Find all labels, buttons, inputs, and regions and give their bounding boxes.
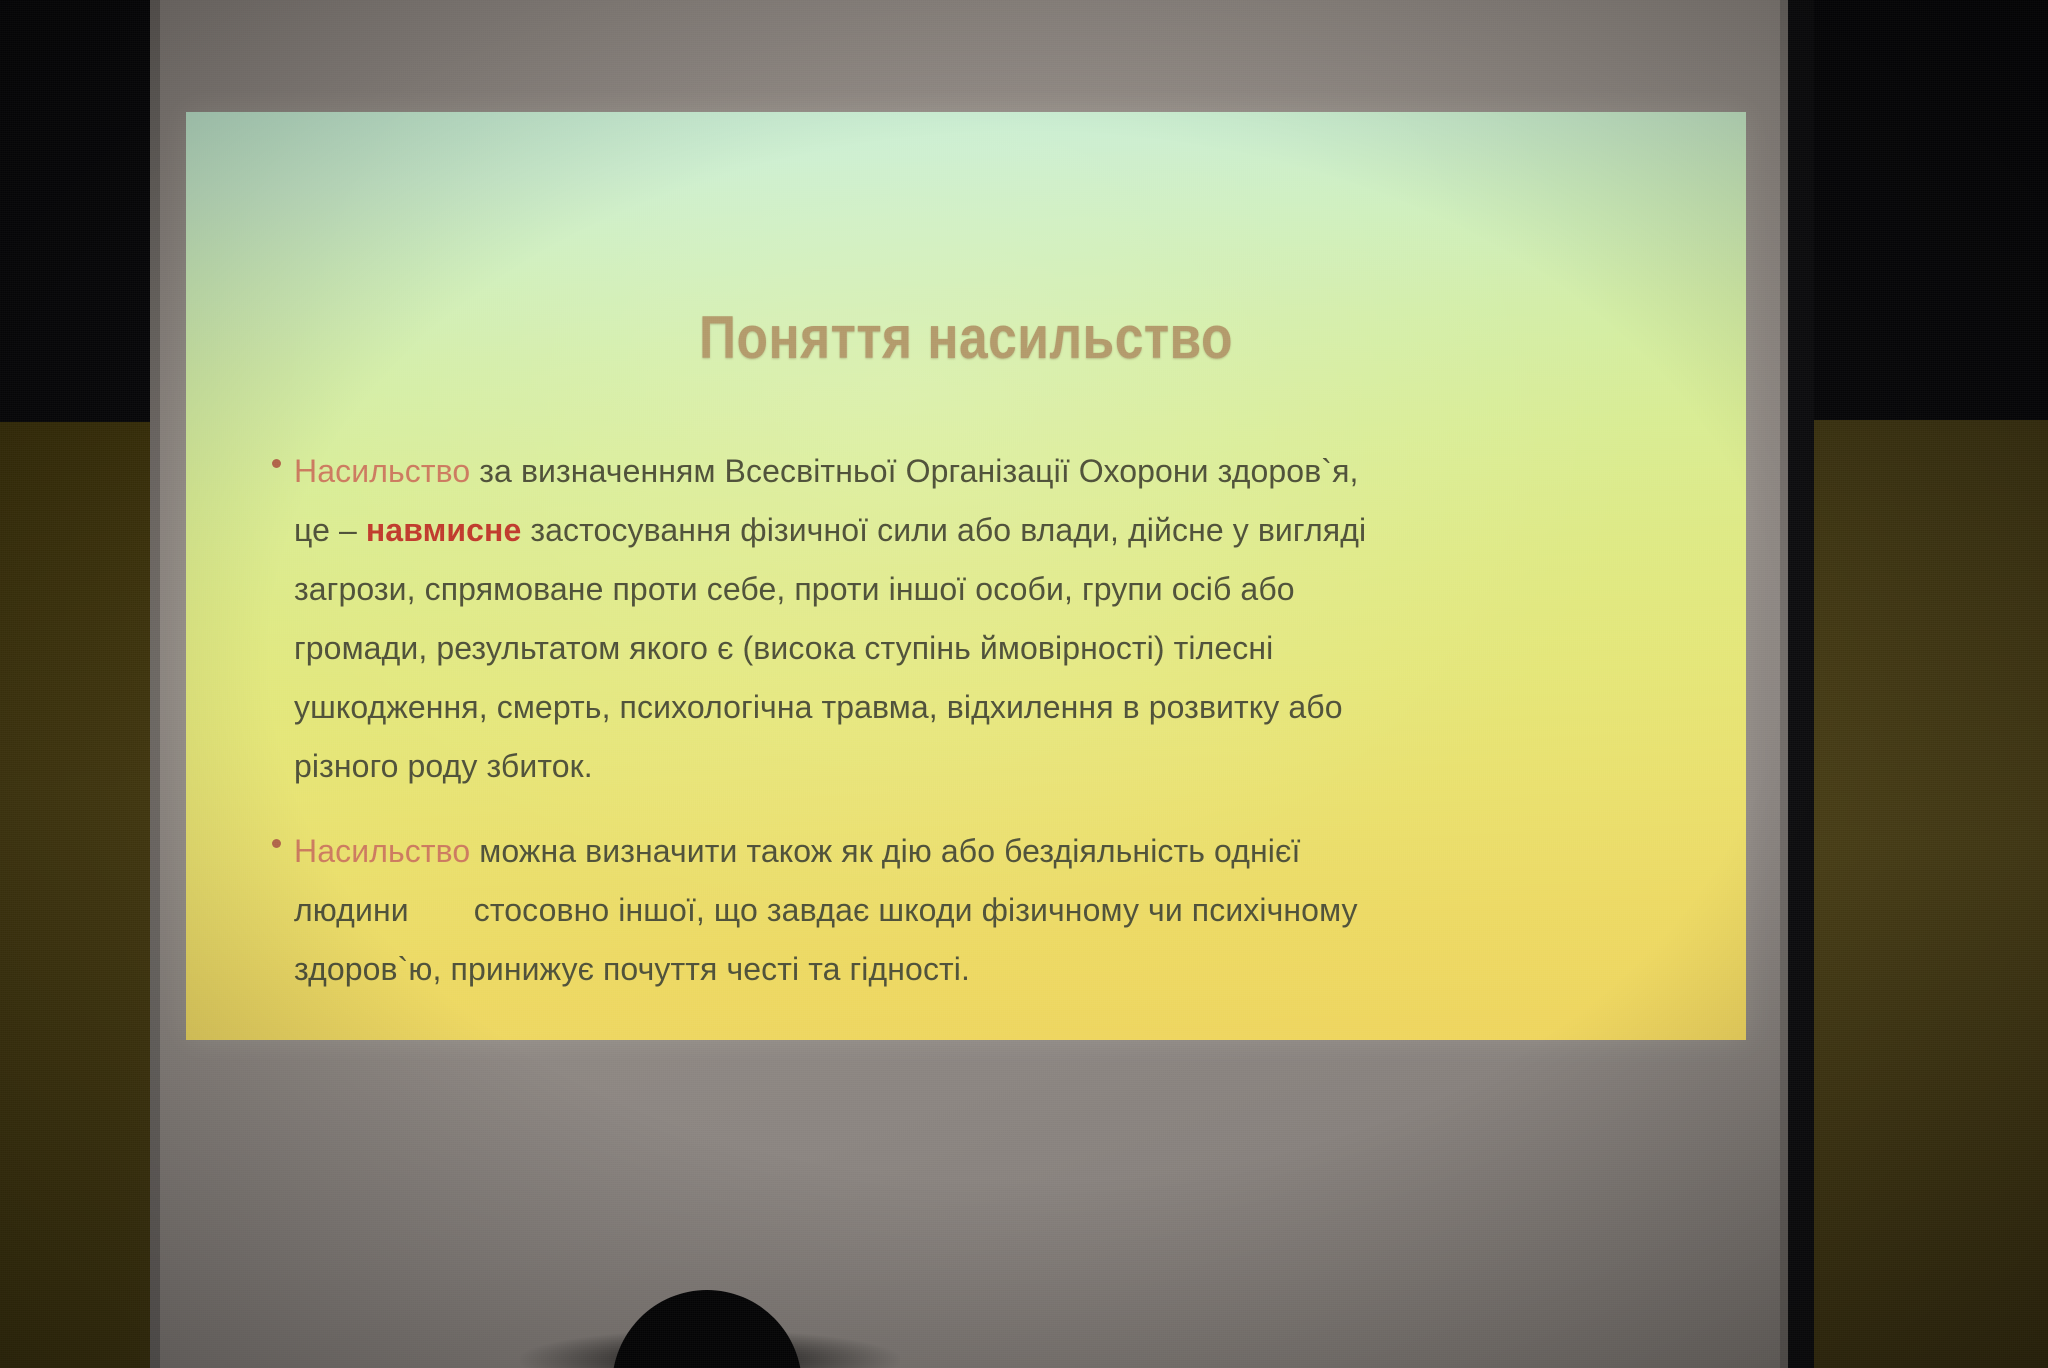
text-run: застосування фізичної сили або влади, ді… <box>521 512 1366 548</box>
room-wall-olive-right <box>1800 418 2048 1368</box>
bullet-dot-icon <box>272 839 281 848</box>
wall-seam-right <box>1788 0 1814 1368</box>
bullet-paragraph: Насильство за визначенням Всесвітньої Ор… <box>294 442 1645 796</box>
bullet-item: Насильство за визначенням Всесвітньої Ор… <box>266 442 1666 796</box>
text-run: ушкодження, смерть, психологічна травма,… <box>294 689 1343 725</box>
slide-body: Насильство за визначенням Всесвітньої Ор… <box>266 442 1666 1025</box>
highlighted-term: Насильство <box>294 833 470 869</box>
text-run: різного роду збиток. <box>294 748 593 784</box>
slide-title: Поняття насильство <box>295 308 1637 368</box>
highlighted-term: Насильство <box>294 453 470 489</box>
text-run: загрози, спрямоване проти себе, проти ін… <box>294 571 1295 607</box>
text-run: за визначенням Всесвітньої Організації О… <box>470 453 1358 489</box>
room-wall-black-left <box>0 0 152 422</box>
text-run: людини <box>294 892 409 928</box>
highlighted-term: навмисне <box>366 512 521 548</box>
text-run: громади, результатом якого є (висока сту… <box>294 630 1273 666</box>
text-run: це – <box>294 512 366 548</box>
text-run: можна визначити також як дію або бездіял… <box>470 833 1300 869</box>
text-run: стосовно іншої, що завдає шкоди фізичном… <box>474 892 1358 928</box>
room-wall-black-right <box>1790 0 2048 420</box>
bullet-paragraph: Насильство можна визначити також як дію … <box>294 822 1645 999</box>
bullet-item: Насильство можна визначити також як дію … <box>266 822 1666 999</box>
presentation-slide: Поняття насильство Насильство за визначе… <box>186 112 1746 1040</box>
bullet-dot-icon <box>272 459 281 468</box>
room-wall-olive-left <box>0 420 152 1368</box>
text-run: здоров`ю, принижує почуття честі та гідн… <box>294 951 970 987</box>
photo-scene: Поняття насильство Насильство за визначе… <box>0 0 2048 1368</box>
projection-screen-left-edge <box>150 0 160 1368</box>
